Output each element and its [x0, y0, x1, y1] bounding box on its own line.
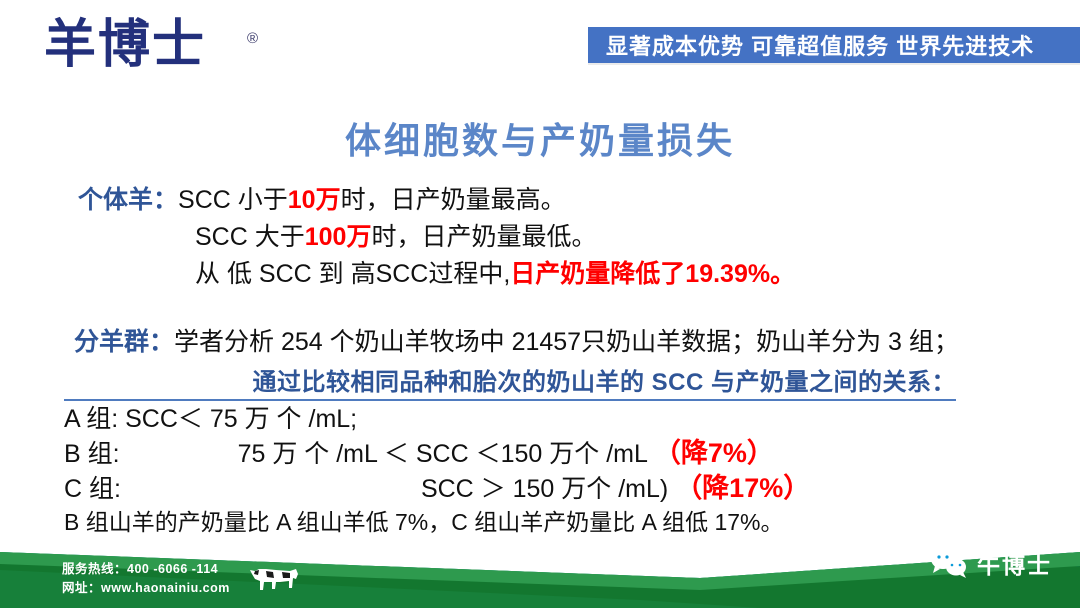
group-b-label: B 组:: [64, 440, 120, 468]
cow-icon: [246, 562, 304, 596]
header-slogan-text: 显著成本优势 可靠超值服务 世界先进技术: [606, 29, 1034, 61]
brand-logo-text: 羊博士: [44, 14, 244, 76]
individual-line2-suffix: 时，日产奶量最低。: [371, 223, 596, 251]
individual-line-1: 个体羊：SCC 小于10万时，日产奶量最高。: [78, 182, 566, 219]
wechat-account-name: 牛博士: [977, 546, 1052, 580]
slide-root: 羊博士 ® 显著成本优势 可靠超值服务 世界先进技术 体细胞数与产奶量损失 个体…: [0, 0, 1080, 608]
footer-website[interactable]: 网址：www.haonainiu.com: [62, 579, 230, 598]
individual-line-2: SCC 大于100万时，日产奶量最低。: [195, 219, 596, 256]
individual-line2-highlight: 100万: [305, 223, 372, 251]
group-c-range: SCC ＞ 150 万个 /mL): [421, 475, 668, 503]
group-c-row: C 组:SCC ＞ 150 万个 /mL) （降17%）: [64, 470, 810, 508]
group-section-underlined-text: 通过比较相同品种和胎次的奶山羊的 SCC 与产奶量之间的关系：: [252, 369, 956, 396]
brand-logo: 羊博士 ®: [44, 14, 244, 78]
group-c-note: （降17%）: [675, 473, 810, 503]
group-a-row: A 组: SCC＜ 75 万 个 /mL;: [64, 401, 357, 438]
group-c-label: C 组:: [64, 475, 121, 503]
group-section-intro-text: 学者分析 254 个奶山羊牧场中 21457只奶山羊数据；奶山羊分为 3 组；: [174, 328, 959, 356]
individual-line1-suffix: 时，日产奶量最高。: [341, 186, 566, 214]
group-b-range: 75 万 个 /mL ＜ SCC ＜150 万个 /mL: [238, 440, 647, 468]
registered-trademark-icon: ®: [247, 30, 258, 47]
individual-label-colon: ：: [153, 186, 178, 214]
page-title: 体细胞数与产奶量损失: [0, 112, 1080, 164]
footer-bar: 服务热线：400 -6066 -114 网址：www.haonainiu.com…: [0, 538, 1080, 608]
group-b-row: B 组:75 万 个 /mL ＜ SCC ＜150 万个 /mL （降7%）: [64, 435, 774, 473]
group-b-note: （降7%）: [654, 438, 774, 468]
individual-line2-prefix: SCC 大于: [195, 223, 305, 251]
group-a-text: A 组: SCC＜ 75 万 个 /mL;: [64, 405, 357, 433]
group-section-label: 分羊群：: [74, 328, 174, 356]
wechat-account-block[interactable]: 牛博士: [929, 546, 1052, 580]
individual-line3-prefix: 从 低 SCC 到 高SCC过程中,: [195, 260, 510, 288]
group-summary-text: B 组山羊的产奶量比 A 组山羊低 7%，C 组山羊产奶量比 A 组低 17%。: [64, 509, 784, 535]
group-section-intro: 分羊群：学者分析 254 个奶山羊牧场中 21457只奶山羊数据；奶山羊分为 3…: [74, 324, 959, 361]
individual-line1-prefix: SCC 小于: [178, 186, 288, 214]
individual-section-label: 个体羊: [78, 186, 153, 214]
individual-line1-highlight: 10万: [288, 186, 341, 214]
group-summary-row: B 组山羊的产奶量比 A 组山羊低 7%，C 组山羊产奶量比 A 组低 17%。: [64, 504, 784, 541]
footer-hotline: 服务热线：400 -6066 -114: [62, 560, 230, 579]
footer-contact-info: 服务热线：400 -6066 -114 网址：www.haonainiu.com: [62, 560, 230, 598]
header-slogan-banner: 显著成本优势 可靠超值服务 世界先进技术: [588, 27, 1080, 63]
individual-line-3: 从 低 SCC 到 高SCC过程中,日产奶量降低了19.39%。: [195, 256, 795, 293]
individual-line3-highlight: 日产奶量降低了19.39%。: [510, 260, 795, 288]
wechat-icon[interactable]: [929, 547, 969, 579]
group-section-underlined-statement: 通过比较相同品种和胎次的奶山羊的 SCC 与产奶量之间的关系：: [64, 362, 956, 401]
